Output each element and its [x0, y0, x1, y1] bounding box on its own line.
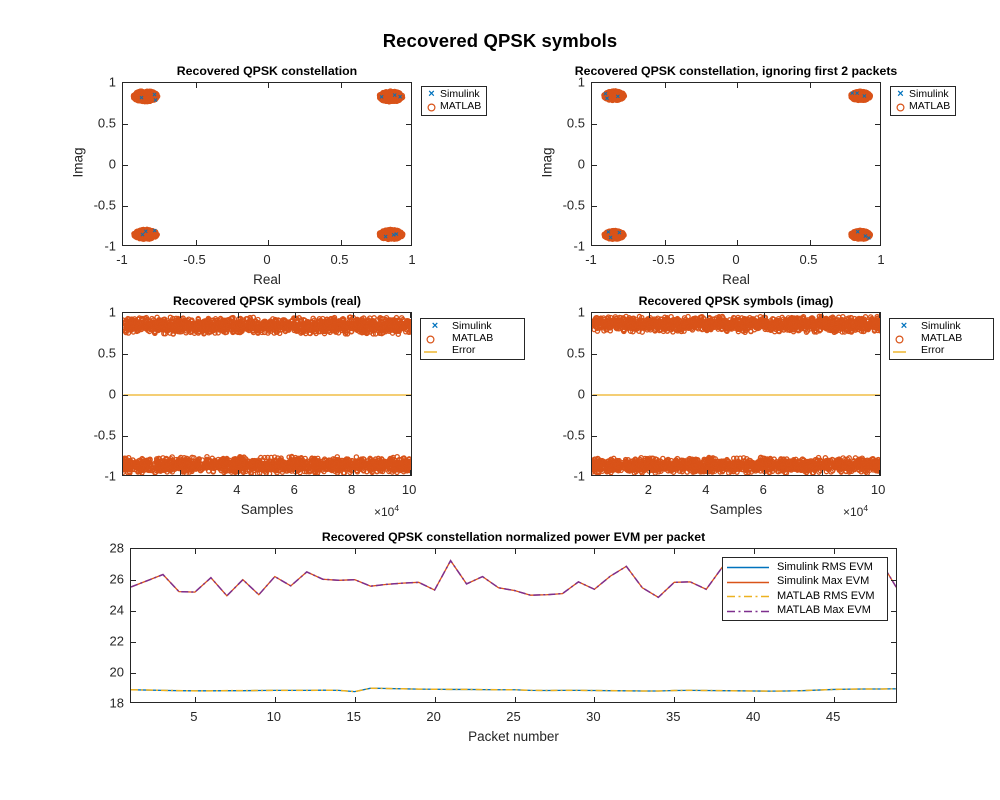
- y-tick-right-2: [406, 436, 411, 437]
- constellation-skip2-x-tick-label: -0.5: [652, 252, 674, 267]
- evm-x-tick-label: 25: [506, 709, 520, 724]
- legend-entry-label: Simulink Max EVM: [772, 575, 869, 589]
- evm-x-tick-label: 15: [346, 709, 360, 724]
- constellation-skip2-x-tick-label: 1: [877, 252, 884, 267]
- plot-area-symbols-real: [123, 313, 411, 475]
- legend-solid-line-icon: [726, 561, 772, 573]
- legend-entry-label: Simulink: [915, 321, 961, 333]
- x-tick-4: [879, 470, 880, 475]
- x-tick-top-2: [355, 549, 356, 554]
- symbols-imag-y-tick-label: -0.5: [543, 428, 585, 443]
- legend-symbols-imag[interactable]: ×SimulinkMATLABError: [889, 318, 994, 360]
- constellation-all-y-tick-label: 1: [74, 75, 116, 90]
- symbols-imag-x-tick-label: 4: [702, 482, 709, 497]
- x-tick-top-7: [754, 549, 755, 554]
- x-tick-3: [822, 470, 823, 475]
- x-tick-2: [341, 240, 342, 245]
- x-tick-4: [410, 470, 411, 475]
- symbols-real-xlabel: Samples: [241, 502, 294, 517]
- y-tick-right-0: [875, 354, 880, 355]
- legend-dashdot-line-icon: [726, 605, 772, 617]
- legend-entry-label: MATLAB Max EVM: [772, 604, 871, 618]
- axes-title-symbols-real: Recovered QPSK symbols (real): [173, 294, 361, 308]
- symbols-imag-y-tick-label: 0: [543, 387, 585, 402]
- y-tick-1: [123, 395, 128, 396]
- x-tick-0: [649, 470, 650, 475]
- legend-circle-marker-icon: [424, 334, 446, 345]
- axes-title-symbols-imag: Recovered QPSK symbols (imag): [639, 294, 834, 308]
- symbols-real-y-tick-label: 1: [74, 305, 116, 320]
- legend-symbols-real[interactable]: ×SimulinkMATLABError: [420, 318, 525, 360]
- constellation-skip2-y-tick-label: 1: [543, 75, 585, 90]
- legend-entry: ×Simulink: [424, 321, 520, 333]
- x-tick-1: [268, 240, 269, 245]
- y-tick-right-2: [875, 206, 880, 207]
- y-tick-3: [131, 673, 136, 674]
- legend-entry: MATLAB: [424, 333, 520, 345]
- x-tick-3: [353, 470, 354, 475]
- evm-x-tick-label: 10: [267, 709, 281, 724]
- x-tick-5: [594, 697, 595, 702]
- legend-x-marker-icon: ×: [425, 89, 438, 101]
- x-tick-0: [665, 240, 666, 245]
- legend-solid-line-icon: [726, 576, 772, 588]
- axes-constellation-skip2[interactable]: Recovered QPSK constellation, ignoring f…: [591, 82, 881, 246]
- constellation-all-cluster: [377, 89, 404, 104]
- symbols-imag-x-tick-label: 2: [645, 482, 652, 497]
- constellation-skip2-y-tick-label: -1: [543, 239, 585, 254]
- legend-entry: ×Simulink: [894, 89, 951, 101]
- x-tick-top-1: [238, 313, 239, 318]
- legend-entry: Error: [424, 345, 520, 357]
- constellation-all-y-tick-label: 0.5: [74, 116, 116, 131]
- x-tick-top-1: [707, 313, 708, 318]
- legend-line-icon: [424, 346, 446, 357]
- legend-entry-label: Error: [915, 345, 944, 357]
- legend-entry-label: Simulink RMS EVM: [772, 561, 873, 575]
- symbols-imag-xlabel: Samples: [710, 502, 763, 517]
- axes-symbols-real[interactable]: Recovered QPSK symbols (real): [122, 312, 412, 476]
- x-tick-top-4: [515, 549, 516, 554]
- y-tick-2: [123, 436, 128, 437]
- symbols-imag-x-tick-label: 8: [817, 482, 824, 497]
- x-tick-top-6: [674, 549, 675, 554]
- symbols-real-x-exponent: ×104: [374, 503, 399, 519]
- x-tick-top-0: [649, 313, 650, 318]
- x-tick-0: [195, 697, 196, 702]
- x-tick-top-2: [295, 313, 296, 318]
- constellation-skip2-x-tick-label: -1: [585, 252, 597, 267]
- constellation-all-x-tick-label: -1: [116, 252, 128, 267]
- legend-entry-label: Error: [446, 345, 475, 357]
- legend-entry-label: MATLAB: [438, 101, 481, 113]
- constellation-all-cluster: [131, 89, 159, 104]
- x-tick-top-2: [810, 83, 811, 88]
- constellation-skip2-cluster: [849, 89, 872, 102]
- x-tick-3: [435, 697, 436, 702]
- symbols-real-y-tick-label: 0.5: [74, 346, 116, 361]
- y-tick-1: [131, 611, 136, 612]
- constellation-skip2-ylabel: Imag: [540, 133, 555, 193]
- constellation-skip2-xlabel: Real: [722, 272, 750, 287]
- evm-y-tick-label: 22: [82, 634, 124, 649]
- legend-entry-label: MATLAB: [915, 333, 962, 345]
- symbols-imag-y-tick-label: 0.5: [543, 346, 585, 361]
- axes-symbols-imag[interactable]: Recovered QPSK symbols (imag): [591, 312, 881, 476]
- x-tick-top-0: [195, 549, 196, 554]
- legend-entry: Simulink RMS EVM: [726, 560, 883, 575]
- x-tick-7: [754, 697, 755, 702]
- legend-entry: MATLAB: [425, 101, 482, 113]
- y-tick-2: [592, 436, 597, 437]
- plot-area-constellation-all: [123, 83, 411, 245]
- x-tick-2: [810, 240, 811, 245]
- symbols-real-x-tick-label: 8: [348, 482, 355, 497]
- x-tick-top-0: [180, 313, 181, 318]
- symbols-real-sample-band: [123, 315, 411, 336]
- plot-area-symbols-imag: [592, 313, 880, 475]
- symbols-imag-y-tick-label: 1: [543, 305, 585, 320]
- legend-entry: Error: [893, 345, 989, 357]
- symbols-imag-x-exponent: ×104: [843, 503, 868, 519]
- constellation-all-ylabel: Imag: [71, 133, 86, 193]
- y-tick-right-0: [875, 124, 880, 125]
- constellation-skip2-x-tick-label: 0: [732, 252, 739, 267]
- symbols-imag-y-tick-label: -1: [543, 469, 585, 484]
- x-tick-top-1: [275, 549, 276, 554]
- x-tick-1: [707, 470, 708, 475]
- legend-entry: MATLAB: [893, 333, 989, 345]
- symbols-real-y-tick-label: 0: [74, 387, 116, 402]
- x-tick-top-3: [435, 549, 436, 554]
- y-tick-right-0: [406, 354, 411, 355]
- constellation-skip2-cluster: [602, 89, 627, 103]
- legend-entry: MATLAB RMS EVM: [726, 589, 883, 604]
- constellation-skip2-y-tick-label: 0.5: [543, 116, 585, 131]
- constellation-all-cluster: [377, 227, 404, 241]
- y-tick-right-2: [406, 206, 411, 207]
- y-tick-right-1: [406, 395, 411, 396]
- x-tick-top-3: [353, 313, 354, 318]
- x-tick-0: [196, 240, 197, 245]
- y-tick-right-1: [875, 395, 880, 396]
- x-tick-top-5: [594, 549, 595, 554]
- legend-entry-label: Simulink: [907, 89, 949, 101]
- x-tick-1: [737, 240, 738, 245]
- y-tick-right-2: [875, 436, 880, 437]
- x-tick-top-4: [410, 313, 411, 318]
- evm-x-tick-label: 35: [666, 709, 680, 724]
- constellation-all-x-tick-label: 1: [408, 252, 415, 267]
- y-tick-right-3: [891, 673, 896, 674]
- legend-entry-label: MATLAB: [446, 333, 493, 345]
- x-tick-top-4: [879, 313, 880, 318]
- legend-line-icon: [893, 346, 915, 357]
- constellation-skip2-y-tick-label: -0.5: [543, 198, 585, 213]
- x-tick-top-0: [196, 83, 197, 88]
- y-tick-right-0: [406, 124, 411, 125]
- symbols-imag-sample-band: [592, 455, 880, 475]
- y-tick-1: [592, 165, 597, 166]
- symbols-real-x-tick-label: 2: [176, 482, 183, 497]
- axes-title-evm: Recovered QPSK constellation normalized …: [322, 530, 705, 544]
- legend-dashdot-line-icon: [726, 590, 772, 602]
- constellation-skip2-cluster: [849, 228, 872, 241]
- legend-entry: MATLAB Max EVM: [726, 604, 883, 619]
- legend-x-marker-icon: ×: [893, 321, 915, 333]
- evm-x-tick-label: 30: [586, 709, 600, 724]
- evm-x-tick-label: 40: [746, 709, 760, 724]
- legend-circle-marker-icon: [425, 102, 438, 113]
- y-tick-2: [592, 206, 597, 207]
- y-tick-1: [123, 165, 128, 166]
- legend-x-marker-icon: ×: [424, 321, 446, 333]
- x-tick-6: [674, 697, 675, 702]
- y-tick-0: [592, 354, 597, 355]
- evm-y-tick-label: 20: [82, 665, 124, 680]
- constellation-all-y-tick-label: -1: [74, 239, 116, 254]
- evm-y-tick-label: 18: [82, 696, 124, 711]
- constellation-all-y-tick-label: -0.5: [74, 198, 116, 213]
- constellation-all-x-tick-label: -0.5: [183, 252, 205, 267]
- legend-entry: ×Simulink: [425, 89, 482, 101]
- y-tick-0: [123, 354, 128, 355]
- legend-entry-label: Simulink: [446, 321, 492, 333]
- y-tick-0: [592, 124, 597, 125]
- x-tick-4: [515, 697, 516, 702]
- y-tick-right-2: [891, 642, 896, 643]
- x-tick-top-8: [834, 549, 835, 554]
- x-tick-1: [238, 470, 239, 475]
- x-tick-top-2: [341, 83, 342, 88]
- x-tick-2: [295, 470, 296, 475]
- evm-xlabel: Packet number: [468, 729, 559, 744]
- legend-entry-label: MATLAB: [907, 101, 950, 113]
- y-tick-2: [123, 206, 128, 207]
- x-tick-8: [834, 697, 835, 702]
- x-tick-top-0: [665, 83, 666, 88]
- symbols-real-y-tick-label: -1: [74, 469, 116, 484]
- figure-title: Recovered QPSK symbols: [0, 30, 1000, 52]
- plot-area-constellation-skip2: [592, 83, 880, 245]
- symbols-real-x-tick-label: 6: [291, 482, 298, 497]
- constellation-skip2-x-tick-label: 0.5: [799, 252, 817, 267]
- x-tick-top-3: [822, 313, 823, 318]
- evm-y-tick-label: 26: [82, 572, 124, 587]
- evm-x-tick-label: 45: [826, 709, 840, 724]
- evm-y-tick-label: 28: [82, 541, 124, 556]
- constellation-all-cluster: [132, 227, 159, 241]
- symbols-real-x-tick-label: 4: [233, 482, 240, 497]
- symbols-real-y-tick-label: -0.5: [74, 428, 116, 443]
- constellation-all-xlabel: Real: [253, 272, 281, 287]
- x-tick-top-1: [737, 83, 738, 88]
- symbols-real-sample-band: [123, 454, 411, 475]
- y-tick-2: [131, 642, 136, 643]
- x-tick-top-1: [268, 83, 269, 88]
- y-tick-right-1: [891, 611, 896, 612]
- axes-title-constellation-skip2: Recovered QPSK constellation, ignoring f…: [575, 64, 898, 78]
- constellation-skip2-cluster: [602, 228, 626, 241]
- x-tick-2: [355, 697, 356, 702]
- symbols-imag-sample-band: [592, 314, 880, 334]
- legend-entry: MATLAB: [894, 101, 951, 113]
- axes-title-constellation-all: Recovered QPSK constellation: [177, 64, 357, 78]
- x-tick-0: [180, 470, 181, 475]
- symbols-real-x-tick-label: 10: [402, 482, 416, 497]
- axes-constellation-all[interactable]: Recovered QPSK constellation: [122, 82, 412, 246]
- legend-entry-label: MATLAB RMS EVM: [772, 590, 875, 604]
- x-tick-top-2: [764, 313, 765, 318]
- legend-entry-label: Simulink: [438, 89, 480, 101]
- legend-entry: Simulink Max EVM: [726, 575, 883, 590]
- symbols-imag-x-tick-label: 6: [760, 482, 767, 497]
- y-tick-0: [123, 124, 128, 125]
- y-tick-right-1: [875, 165, 880, 166]
- legend-entry: ×Simulink: [893, 321, 989, 333]
- evm-y-tick-label: 24: [82, 603, 124, 618]
- symbols-imag-x-tick-label: 10: [871, 482, 885, 497]
- legend-circle-marker-icon: [893, 334, 915, 345]
- constellation-all-x-tick-label: 0: [263, 252, 270, 267]
- legend-constellation-skip2[interactable]: ×SimulinkMATLAB: [890, 86, 956, 116]
- legend-x-marker-icon: ×: [894, 89, 907, 101]
- y-tick-right-1: [406, 165, 411, 166]
- y-tick-1: [592, 395, 597, 396]
- x-tick-2: [764, 470, 765, 475]
- x-tick-1: [275, 697, 276, 702]
- constellation-all-x-tick-label: 0.5: [330, 252, 348, 267]
- evm-x-tick-label: 20: [426, 709, 440, 724]
- y-tick-0: [131, 580, 136, 581]
- legend-constellation-all[interactable]: ×SimulinkMATLAB: [421, 86, 487, 116]
- y-tick-right-0: [891, 580, 896, 581]
- evm-x-tick-label: 5: [190, 709, 197, 724]
- legend-evm[interactable]: Simulink RMS EVMSimulink Max EVMMATLAB R…: [722, 557, 888, 621]
- legend-circle-marker-icon: [894, 102, 907, 113]
- matlab-figure-canvas: Recovered QPSK symbols Recovered QPSK co…: [0, 0, 1000, 800]
